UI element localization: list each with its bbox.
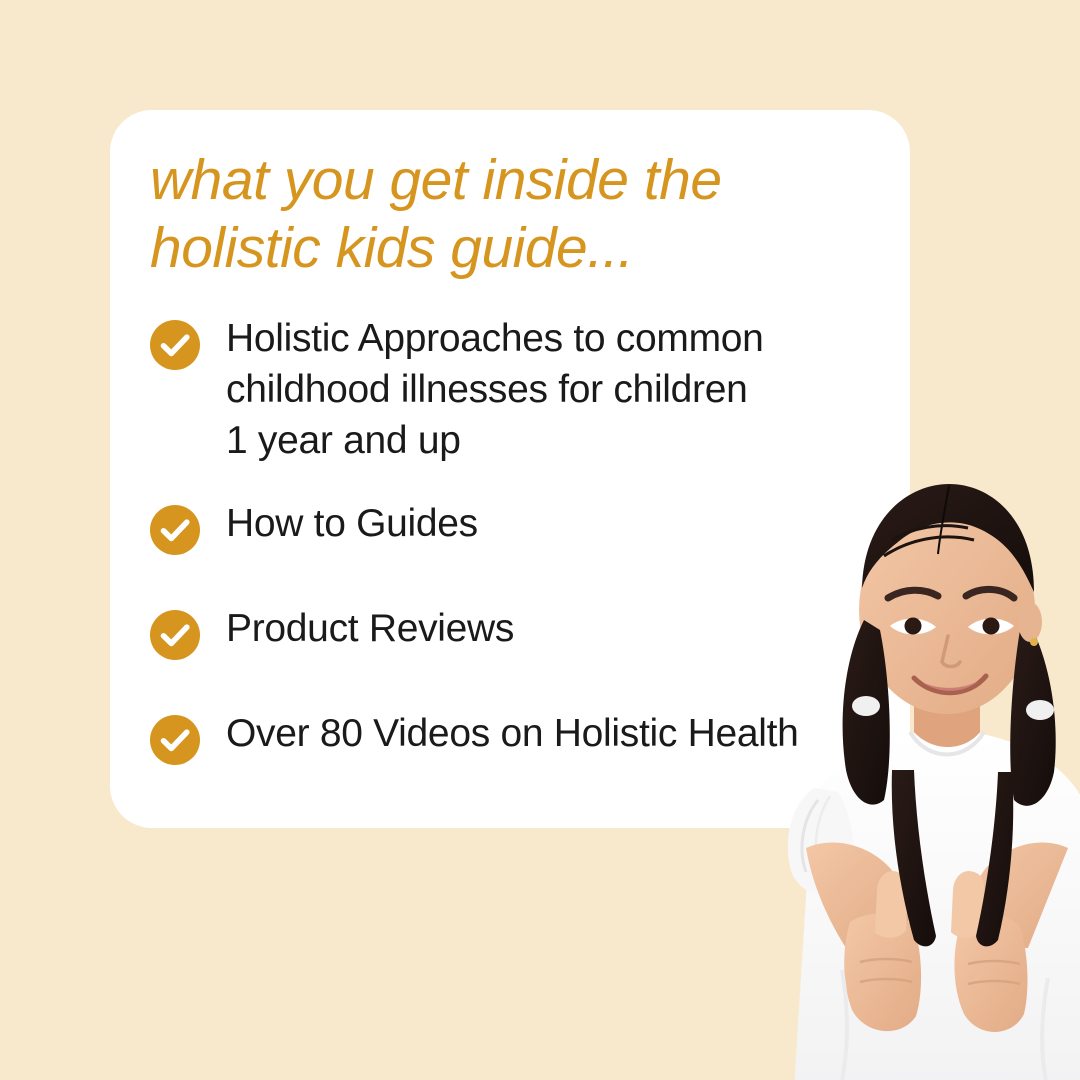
child-photo [772, 470, 1080, 1080]
check-circle-icon [150, 505, 200, 555]
list-item-label: Holistic Approaches to common childhood … [226, 313, 764, 466]
list-item-label: Over 80 Videos on Holistic Health [226, 708, 799, 759]
page-title: what you get inside the holistic kids gu… [150, 146, 850, 282]
list-item-label: Product Reviews [226, 603, 514, 654]
list-item: Holistic Approaches to common childhood … [150, 313, 764, 466]
list-item-label: How to Guides [226, 498, 478, 549]
promo-graphic: what you get inside the holistic kids gu… [0, 0, 1080, 1080]
list-item: How to Guides [150, 498, 478, 555]
check-circle-icon [150, 610, 200, 660]
list-item: Over 80 Videos on Holistic Health [150, 708, 799, 765]
list-item: Product Reviews [150, 603, 514, 660]
check-circle-icon [150, 715, 200, 765]
check-circle-icon [150, 320, 200, 370]
